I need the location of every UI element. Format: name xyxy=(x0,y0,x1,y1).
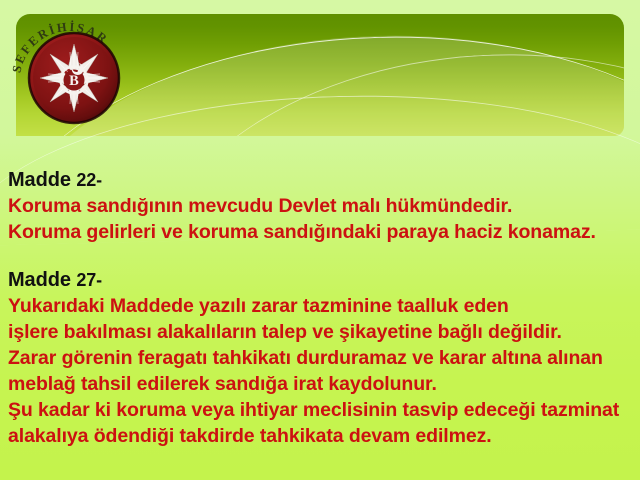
article-22-number: 22- xyxy=(76,170,102,190)
article-27-body: Yukarıdaki Maddede yazılı zarar tazminin… xyxy=(8,295,619,447)
article-22-body: Koruma sandığının mevcudu Devlet malı hü… xyxy=(8,195,596,243)
presentation-slide: SEFERİHİSAR xyxy=(0,0,640,480)
article-27-label: Madde 27- xyxy=(8,269,102,291)
seferihisar-emblem-logo: SEFERİHİSAR xyxy=(12,14,124,126)
emblem-star: B xyxy=(40,44,108,112)
emblem-center-letter: B xyxy=(69,73,79,89)
article-27-number: 27- xyxy=(76,270,102,290)
article-22-text-block: Madde 22- Koruma sandığının mevcudu Devl… xyxy=(8,141,632,245)
article-22-label: Madde 22- xyxy=(8,169,102,191)
article-27-text-block: Madde 27- Yukarıdaki Maddede yazılı zara… xyxy=(8,241,632,449)
